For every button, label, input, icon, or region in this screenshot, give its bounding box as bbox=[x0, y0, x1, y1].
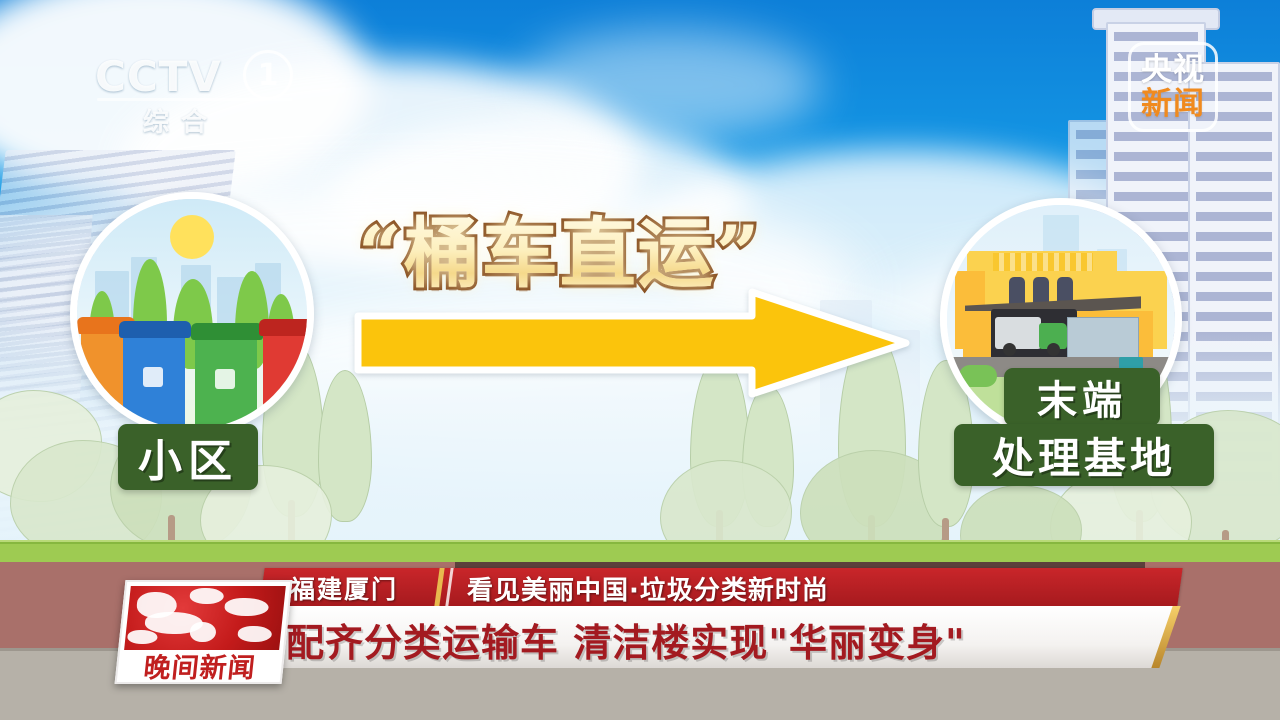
divider-gold bbox=[434, 568, 444, 606]
channel-logo: CCTV 1 综合 bbox=[95, 52, 295, 136]
program-logo: 晚间新闻 bbox=[115, 580, 293, 684]
label-destination-line2: 处理基地 bbox=[954, 424, 1214, 486]
origin-circle-image bbox=[70, 192, 314, 436]
watermark-line2: 新闻 bbox=[1141, 89, 1205, 120]
topic-label: 看见美丽中国·垃圾分类新时尚 bbox=[467, 570, 829, 607]
arrow-right-icon bbox=[352, 288, 912, 398]
graphic-title: “桶车直运” bbox=[358, 206, 778, 302]
news-watermark: 央视 新闻 bbox=[1128, 42, 1218, 132]
divider-white bbox=[445, 568, 453, 606]
headline-text: 配齐分类运输车 清洁楼实现"华丽变身" bbox=[286, 612, 966, 667]
channel-number: 1 bbox=[243, 50, 293, 100]
label-origin: 小区 bbox=[118, 424, 258, 490]
watermark-line1: 央视 bbox=[1141, 55, 1205, 86]
recycling-bins-icon bbox=[77, 199, 307, 429]
grass-strip bbox=[0, 540, 1280, 564]
program-name: 晚间新闻 bbox=[121, 652, 279, 678]
broadcast-screen: “桶车直运” “桶车直运” 小区 末端 处理基地 CCTV 1 综合 央视 新闻… bbox=[0, 0, 1280, 720]
red-globe-icon bbox=[124, 586, 286, 650]
lower-third-top-content: 福建厦门 看见美丽中国·垃圾分类新时尚 bbox=[262, 568, 1180, 606]
channel-logo-subtitle: 综合 bbox=[143, 102, 219, 139]
flow-arrow bbox=[352, 288, 912, 398]
label-destination-line1: 末端 bbox=[1004, 368, 1160, 426]
cloud bbox=[520, 30, 820, 140]
channel-logo-divider bbox=[97, 98, 293, 101]
sun-icon bbox=[170, 215, 214, 259]
location-label: 福建厦门 bbox=[290, 570, 398, 606]
